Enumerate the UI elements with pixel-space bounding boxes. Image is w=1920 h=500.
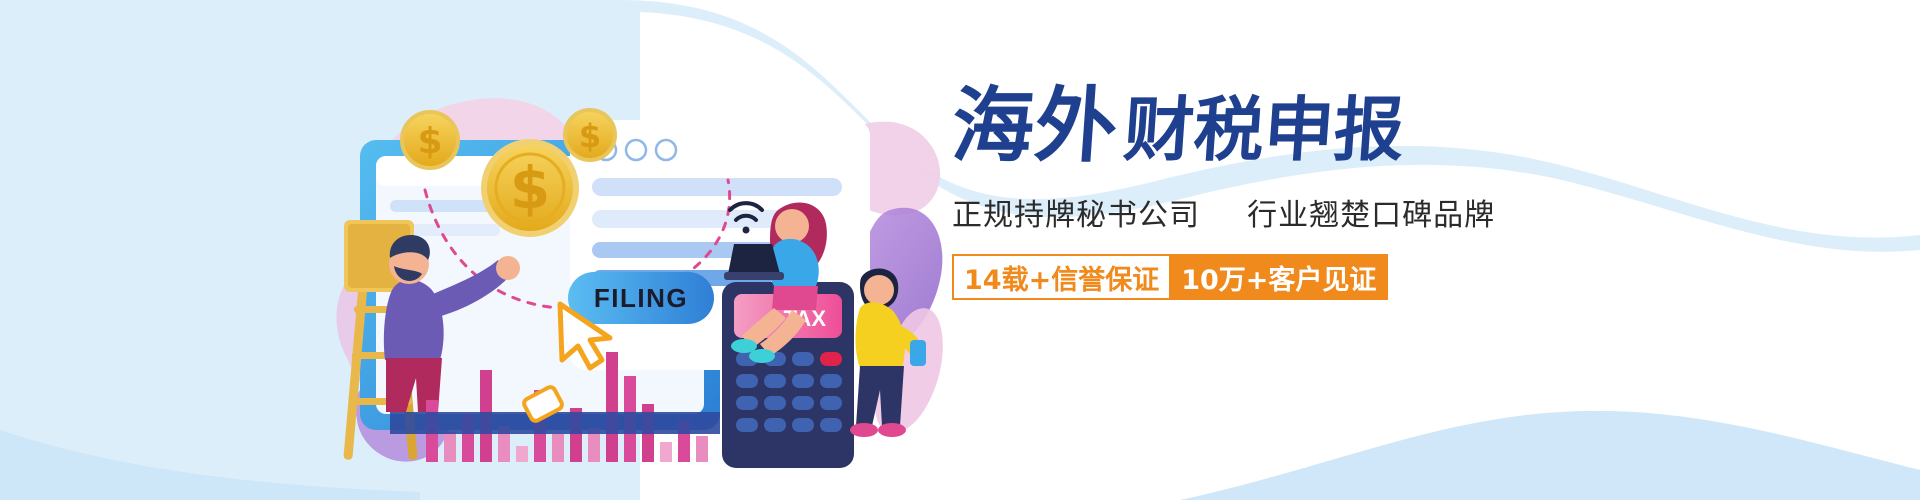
person-shoe-1	[850, 423, 878, 437]
filing-button-label[interactable]: FILING	[594, 283, 688, 313]
text-content-block: 海外 财税申报 正规持牌秘书公司 行业翘楚口碑品牌 14载+信誉保证 10万+客…	[952, 86, 1512, 300]
secondary-line-2	[592, 210, 792, 228]
man-hand	[496, 256, 520, 280]
person-phone	[910, 340, 926, 366]
filing-button-group[interactable]: FILING	[568, 272, 714, 324]
badge-group: 14载+信誉保证 10万+客户见证	[952, 254, 1388, 300]
headline-part-one: 海外	[949, 86, 1121, 168]
woman-skirt	[772, 286, 818, 310]
illustration-svg: $ $ $	[330, 60, 950, 480]
badge-credit-guarantee[interactable]: 14载+信誉保证	[952, 254, 1171, 300]
headline-part-two: 财税申报	[1122, 95, 1407, 165]
headline: 海外 财税申报	[952, 86, 1512, 168]
coin-symbol-1: $	[417, 121, 442, 162]
person-shoe-2	[878, 423, 906, 437]
coin-small-right: $	[565, 110, 615, 160]
subtitle-right: 行业翘楚口碑品牌	[1247, 198, 1495, 233]
coin-large: $	[484, 142, 576, 234]
laptop-screen	[728, 244, 780, 274]
person-head	[864, 275, 894, 305]
chart-baseline-band	[390, 412, 720, 434]
coin-small-left: $	[402, 112, 458, 168]
woman-shoe-2	[749, 349, 775, 363]
badge-customer-proof[interactable]: 10万+客户见证	[1171, 254, 1388, 300]
coin-symbol-3: $	[510, 154, 550, 222]
illustration-group: $ $ $	[330, 60, 950, 480]
laptop-base	[724, 272, 784, 280]
woman-head	[775, 209, 809, 243]
banner-root: $ $ $	[0, 0, 1920, 500]
secondary-line-1	[592, 178, 842, 196]
subtitle: 正规持牌秘书公司 行业翘楚口碑品牌	[952, 190, 1512, 234]
subtitle-left: 正规持牌秘书公司	[952, 198, 1200, 233]
coin-symbol-2: $	[579, 117, 601, 155]
